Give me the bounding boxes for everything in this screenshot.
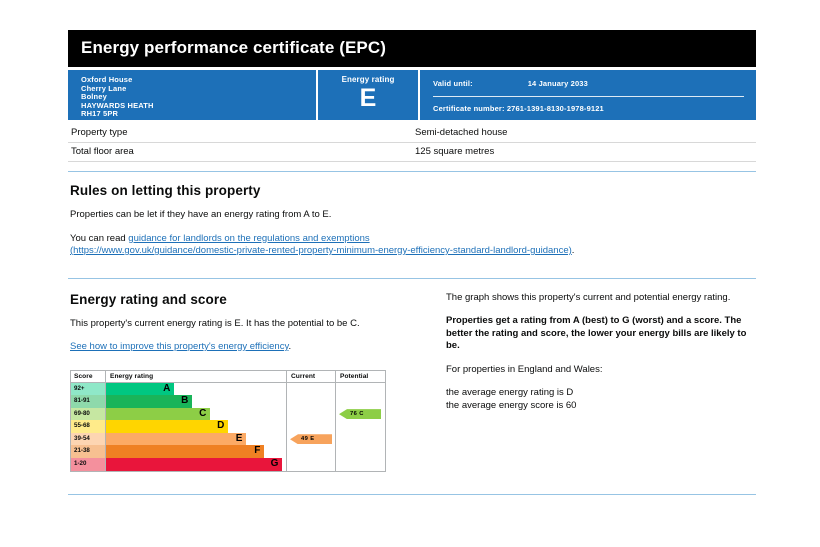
epc-band-bar-cell: A	[106, 383, 287, 396]
total-floor-area-label: Total floor area	[71, 146, 415, 157]
epc-band-row: 1-20G	[71, 458, 385, 471]
energy-rating-letter: E	[318, 85, 418, 112]
certificate-number: Certificate number: 2761-1391-8130-1978-…	[433, 104, 744, 113]
epc-band-row: 39-54E49 E	[71, 433, 385, 446]
epc-current-cell	[287, 383, 336, 396]
epc-band-row: 81-91B	[71, 395, 385, 408]
total-floor-area-value: 125 square metres	[415, 146, 756, 157]
valid-until-label: Valid until:	[433, 79, 473, 88]
epc-current-cell	[287, 395, 336, 408]
section-divider	[68, 278, 756, 279]
epc-potential-cell	[336, 420, 385, 433]
rating-left-column: Energy rating and score This property's …	[68, 281, 440, 472]
column-header-score: Score	[71, 371, 106, 382]
epc-band-row: 69-80C76 C	[71, 408, 385, 421]
rating-and-score-section: Energy rating and score This property's …	[68, 281, 756, 472]
epc-current-cell: 49 E	[287, 433, 336, 446]
epc-band-bar-cell: B	[106, 395, 287, 408]
table-row: Total floor area 125 square metres	[68, 143, 756, 162]
letting-paragraph: Properties can be let if they have an en…	[70, 209, 756, 222]
property-type-label: Property type	[71, 127, 415, 138]
epc-score-range: 81-91	[71, 395, 106, 408]
property-type-value: Semi-detached house	[415, 127, 756, 138]
epc-potential-cell	[336, 445, 385, 458]
letting-heading: Rules on letting this property	[70, 183, 756, 198]
valid-until-value: 14 January 2033	[528, 79, 588, 88]
epc-current-cell	[287, 420, 336, 433]
energy-rating-badge: Energy rating E	[318, 70, 418, 120]
energy-rating-label: Energy rating	[318, 75, 418, 84]
epc-band-f: F	[106, 445, 264, 458]
property-facts-table: Property type Semi-detached house Total …	[68, 124, 756, 162]
epc-graph-header: Score Energy rating Current Potential	[71, 371, 385, 383]
improve-efficiency-link[interactable]: See how to improve this property's energ…	[70, 341, 289, 352]
address-line-2: Cherry Lane	[81, 85, 316, 94]
epc-score-range: 55-68	[71, 420, 106, 433]
guidance-suffix: .	[572, 245, 575, 256]
landlord-guidance-url[interactable]: (https://www.gov.uk/guidance/domestic-pr…	[70, 245, 572, 256]
epc-potential-cell	[336, 395, 385, 408]
section-divider	[68, 494, 756, 495]
rating-heading: Energy rating and score	[70, 292, 440, 307]
epc-band-d: D	[106, 420, 228, 433]
epc-rating-graph: Score Energy rating Current Potential 92…	[70, 370, 386, 472]
divider	[433, 96, 744, 97]
certificate-info-band: Oxford House Cherry Lane Bolney HAYWARDS…	[68, 70, 756, 120]
improve-suffix: .	[289, 341, 292, 352]
epc-score-range: 21-38	[71, 445, 106, 458]
epc-band-e: E	[106, 433, 246, 446]
epc-potential-cell	[336, 383, 385, 396]
averages: the average energy rating is Dthe averag…	[446, 387, 756, 412]
epc-band-row: 55-68D	[71, 420, 385, 433]
average-rating: the average energy rating is D	[446, 387, 573, 398]
property-address: Oxford House Cherry Lane Bolney HAYWARDS…	[68, 70, 316, 120]
landlord-guidance-link[interactable]: guidance for landlords on the regulation…	[128, 233, 369, 244]
rating-paragraph: This property's current energy rating is…	[70, 318, 440, 331]
rating-right-column: The graph shows this property's current …	[440, 281, 756, 472]
epc-graph-body: 92+A81-91B69-80C76 C55-68D39-54E49 E21-3…	[71, 383, 385, 471]
epc-document: Energy performance certificate (EPC) Oxf…	[68, 30, 756, 495]
epc-band-b: B	[106, 395, 192, 408]
average-score: the average energy score is 60	[446, 400, 576, 411]
epc-band-bar-cell: F	[106, 445, 287, 458]
section-divider	[68, 171, 756, 172]
letting-guidance-paragraph: You can read guidance for landlords on t…	[70, 233, 756, 258]
epc-potential-cell: 76 C	[336, 408, 385, 421]
epc-current-cell	[287, 445, 336, 458]
certificate-details: Valid until: 14 January 2033 Certificate…	[420, 70, 756, 120]
page-title: Energy performance certificate (EPC)	[68, 30, 756, 67]
epc-potential-cell	[336, 433, 385, 446]
column-header-potential: Potential	[336, 371, 385, 382]
epc-band-c: C	[106, 408, 210, 421]
epc-band-bar-cell: C	[106, 408, 287, 421]
epc-score-range: 69-80	[71, 408, 106, 421]
improve-paragraph: See how to improve this property's energ…	[70, 341, 440, 354]
epc-band-bar-cell: G	[106, 458, 287, 471]
column-header-current: Current	[287, 371, 336, 382]
epc-current-cell	[287, 458, 336, 471]
guidance-prefix: You can read	[70, 233, 128, 244]
address-postcode: RH17 5PR	[81, 110, 316, 119]
epc-score-range: 92+	[71, 383, 106, 396]
epc-band-g: G	[106, 458, 282, 471]
epc-band-bar-cell: E	[106, 433, 287, 446]
rating-explanation: Properties get a rating from A (best) to…	[446, 315, 756, 353]
graph-description: The graph shows this property's current …	[446, 292, 756, 305]
region-label: For properties in England and Wales:	[446, 364, 756, 377]
epc-band-row: 21-38F	[71, 445, 385, 458]
table-row: Property type Semi-detached house	[68, 124, 756, 143]
epc-potential-cell	[336, 458, 385, 471]
epc-score-range: 1-20	[71, 458, 106, 471]
potential-rating-arrow: 76 C	[339, 409, 381, 419]
epc-current-cell	[287, 408, 336, 421]
epc-band-row: 92+A	[71, 383, 385, 396]
epc-band-bar-cell: D	[106, 420, 287, 433]
current-rating-arrow: 49 E	[290, 434, 332, 444]
epc-score-range: 39-54	[71, 433, 106, 446]
epc-band-a: A	[106, 383, 174, 396]
column-header-energy-rating: Energy rating	[106, 371, 287, 382]
